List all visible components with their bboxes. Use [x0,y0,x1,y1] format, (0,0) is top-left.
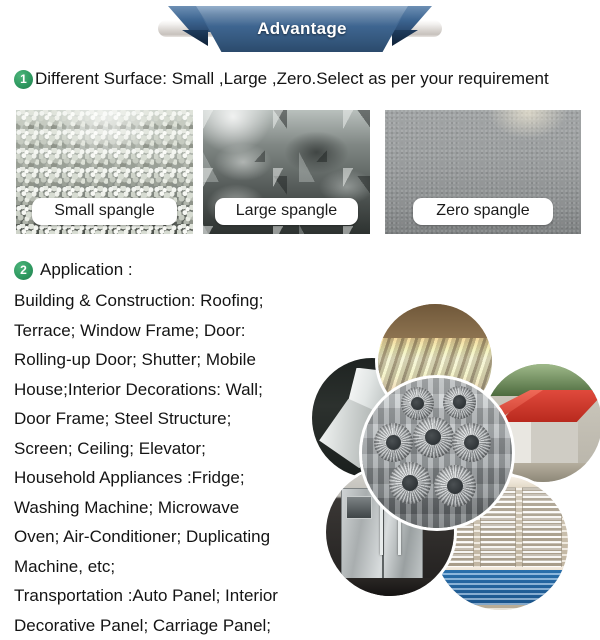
application-line: Building & Construction: Roofing; [14,286,332,316]
application-photo-collage [312,300,600,600]
application-line: Machine, etc; [14,552,332,582]
application-text-block: Building & Construction: Roofing; Terrac… [14,286,332,640]
section-2-heading-text: Application : [40,260,133,280]
sample-caption-zero: Zero spangle [413,198,553,225]
banner-title: Advantage [196,6,408,52]
steel-coil [401,387,434,420]
refrigerator-floor [326,578,454,596]
steel-coil [452,423,491,462]
sample-zero-spangle[interactable]: Zero spangle [385,110,581,234]
application-line: Rolling-up Door; Shutter; Mobile [14,345,332,375]
advantage-banner: Advantage [0,0,600,58]
sample-caption-large: Large spangle [215,198,358,225]
zero-spangle-highlight [487,110,569,140]
shutter-blue-band [434,570,568,605]
steel-coil [374,423,413,462]
roofing-eave [378,304,492,338]
section-1-badge: 1 [14,70,33,89]
steel-coil [389,462,431,504]
section-1-heading-row: 1 Different Surface: Small ,Large ,Zero.… [14,69,549,89]
application-line: Washing Machine; Microwave [14,493,332,523]
large-spangle-highlight [203,110,273,155]
application-line: Screen; Ceiling; Elevator; [14,434,332,464]
steel-coils-image [362,378,512,528]
application-line: Door Frame; Steel Structure; [14,404,332,434]
steel-coil [443,386,476,419]
sample-small-spangle[interactable]: Small spangle [16,110,193,234]
section-1-heading-text: Different Surface: Small ,Large ,Zero.Se… [35,69,549,89]
application-line: Transportation :Auto Panel; Interior [14,581,332,611]
steel-coil [413,417,454,458]
sample-caption-small: Small spangle [32,198,177,225]
application-line: Terrace; Window Frame; Door: [14,316,332,346]
application-line: Decorative Panel; Carriage Panel; [14,611,332,640]
sample-large-spangle[interactable]: Large spangle [203,110,370,234]
section-2-heading-row: 2 Application : [14,260,133,280]
small-spangle-highlight [51,110,161,162]
application-line: House;Interior Decorations: Wall; [14,375,332,405]
steel-coils-photo [362,378,512,528]
application-line: Oven; Air-Conditioner; Duplicating [14,522,332,552]
section-2-badge: 2 [14,261,33,280]
surface-sample-gallery: Small spangle Large spangle Zero spangle [0,110,600,234]
application-line: Household Appliances :Fridge; [14,463,332,493]
steel-coil [434,465,476,507]
shutter-bay-3 [522,487,562,569]
